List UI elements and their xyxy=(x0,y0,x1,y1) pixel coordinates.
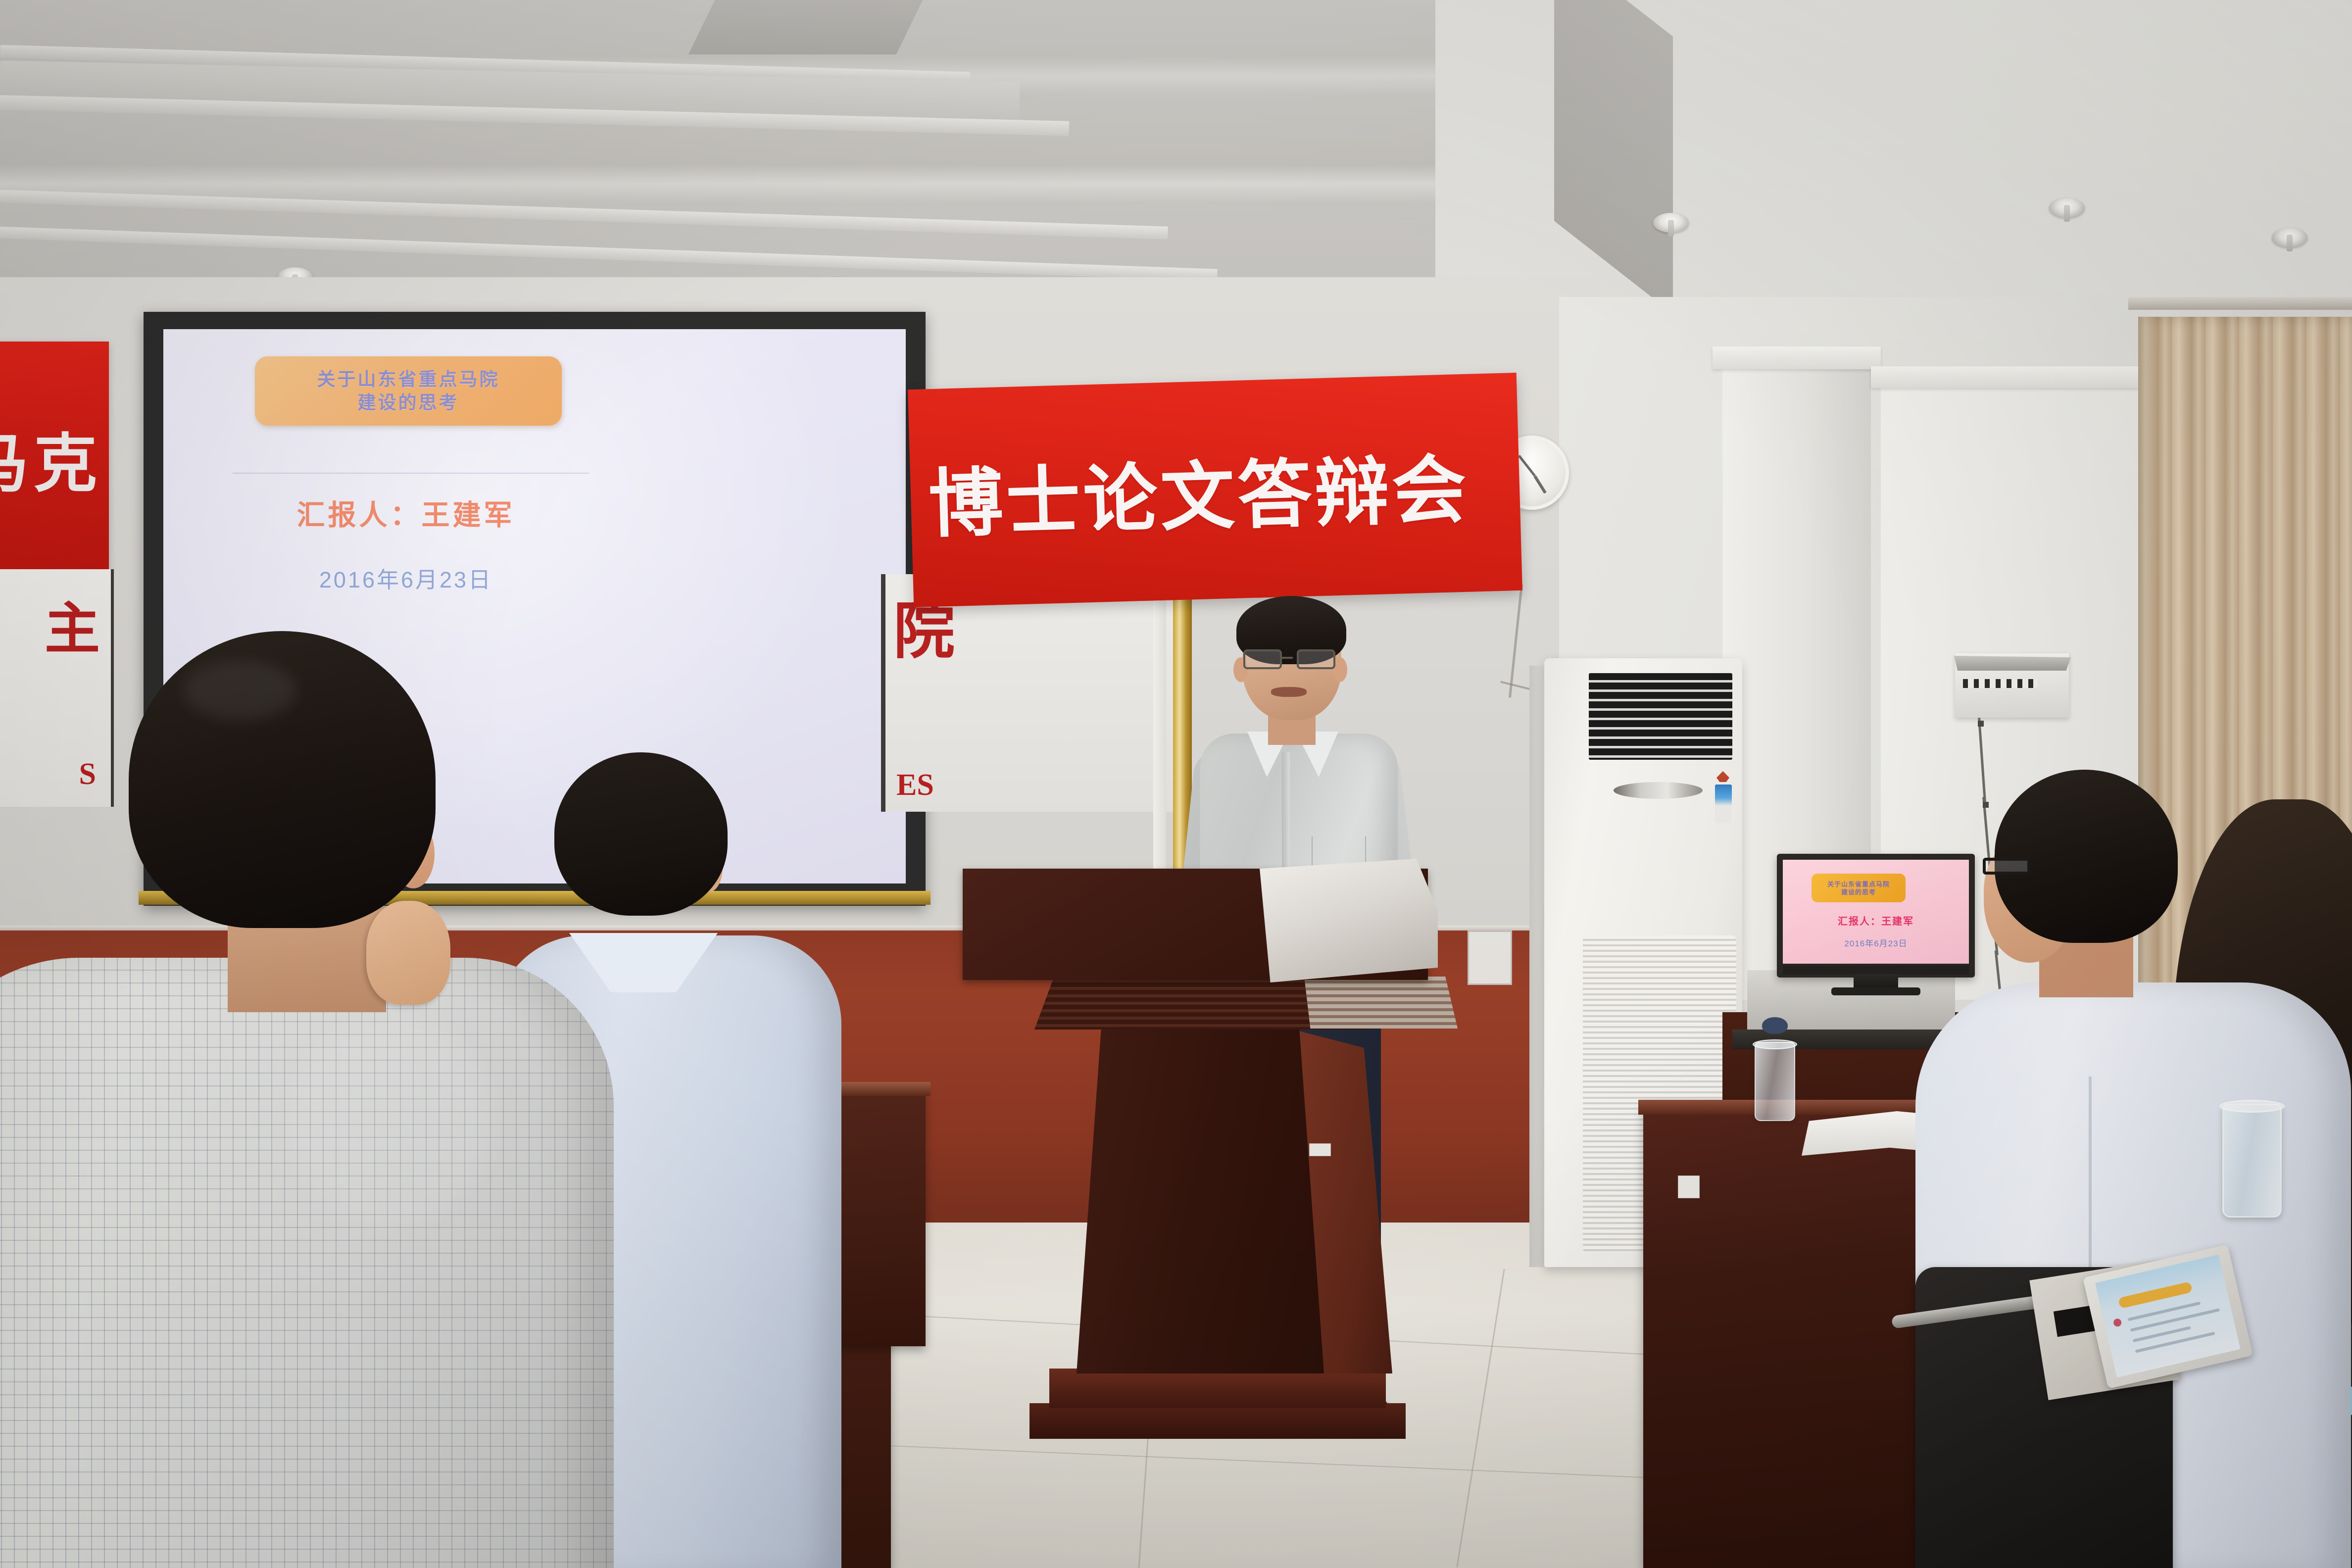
lectern-column xyxy=(1077,1027,1324,1373)
audience-person-check-shirt xyxy=(0,631,836,1568)
monitor-bezel-bottom xyxy=(1783,966,1969,975)
main-banner-text: 博士论文答辩会 xyxy=(927,429,1470,551)
lectern-base-upper xyxy=(1049,1369,1386,1408)
shirt-highlight xyxy=(287,1017,495,1225)
eyeglasses-icon xyxy=(1243,649,1340,669)
lectern-desktop-panel xyxy=(1260,859,1438,982)
desktop-monitor[interactable]: 关于山东省重点马院 建设的思考 汇报人：王建军 2016年6月23日 xyxy=(1777,854,1975,978)
asset-tag-label xyxy=(1678,1176,1700,1198)
tablet-highlight-bar xyxy=(2118,1281,2193,1309)
downlight-icon xyxy=(2272,228,2307,247)
wall-switch-plate[interactable] xyxy=(1468,931,1512,985)
glass-jar-rim xyxy=(2219,1100,2285,1113)
monitor-screen: 关于山东省重点马院 建设的思考 汇报人：王建军 2016年6月23日 xyxy=(1783,860,1969,964)
downlight-icon xyxy=(2049,198,2085,218)
cable-clip xyxy=(1978,721,1984,727)
lectern-cornice-lit xyxy=(1304,977,1458,1029)
tablet-screen[interactable] xyxy=(2095,1255,2241,1378)
downlight-icon xyxy=(1653,213,1689,233)
tablet-avatar-dot xyxy=(2113,1318,2122,1327)
conference-room-photo: 关于山东省重点马院 建设的思考 汇报人：王建军 2016年6月23日 马克 主 … xyxy=(0,0,2352,1568)
lectern-asset-label xyxy=(1309,1143,1331,1156)
wall-box-lid xyxy=(1954,656,2071,671)
audience-hair xyxy=(1995,770,2178,943)
slide-title-box: 关于山东省重点马院 建设的思考 xyxy=(255,356,562,426)
left-red-banner: 马克 xyxy=(0,342,109,574)
mouse[interactable] xyxy=(1762,1017,1788,1034)
ac-top-vent xyxy=(1589,673,1732,760)
wall-box-terminals xyxy=(1963,679,2037,688)
left-banner-text: 马克 xyxy=(0,412,102,504)
ceiling-beam-center xyxy=(688,0,926,54)
eyeglass-lens-left xyxy=(1243,649,1282,669)
ac-display-panel[interactable] xyxy=(1614,782,1703,799)
glass-jar-cup[interactable] xyxy=(2222,1104,2282,1218)
eyeglasses-icon xyxy=(1983,858,2072,875)
tablet-text-line xyxy=(2130,1308,2220,1331)
ac-brand-icon xyxy=(1716,771,1729,782)
monitor-slide-title-box: 关于山东省重点马院 建设的思考 xyxy=(1812,874,1906,902)
monitor-slide-title-1: 关于山东省重点马院 xyxy=(1827,881,1890,887)
curtain-rod xyxy=(2128,297,2352,310)
right-institute-sign: 院 ES xyxy=(881,574,1188,812)
slide-presenter: 汇报人：王建军 xyxy=(163,492,648,533)
eyeglass-lens-right xyxy=(1297,649,1335,669)
main-red-banner: 博士论文答辩会 xyxy=(908,373,1522,607)
eyeglass-bridge xyxy=(1282,657,1293,659)
water-glass[interactable] xyxy=(1755,1042,1795,1121)
check-pattern-shirt xyxy=(0,958,614,1568)
water-glass-rim xyxy=(1753,1039,1797,1049)
column-capital-right xyxy=(1871,366,2168,388)
slide-title-line-2: 建设的思考 xyxy=(358,393,459,412)
wooden-lectern xyxy=(963,869,1428,1458)
ac-energy-label xyxy=(1715,784,1732,823)
slide-date: 2016年6月23日 xyxy=(163,562,648,594)
monitor-slide-presenter: 汇报人：王建军 xyxy=(1783,913,1969,928)
right-sign-english: ES xyxy=(896,768,934,803)
presenter-mouth xyxy=(1271,687,1307,697)
slide-title-line-1: 关于山东省重点马院 xyxy=(317,370,500,389)
tablet-text-line xyxy=(2135,1332,2215,1353)
monitor-base xyxy=(1831,987,1920,995)
monitor-slide-title-2: 建设的思考 xyxy=(1841,889,1876,895)
hair-highlight xyxy=(183,661,297,720)
clock-hand-minute xyxy=(1518,455,1536,477)
eyeglass-lens xyxy=(1983,858,2030,875)
audience-hand-on-face xyxy=(366,901,450,1005)
slide-divider xyxy=(233,473,589,474)
column-capital xyxy=(1713,346,1881,369)
lectern-base-lower xyxy=(1029,1403,1406,1439)
clock-hand-hour xyxy=(1533,475,1546,493)
monitor-slide-date: 2016年6月23日 xyxy=(1783,936,1969,949)
